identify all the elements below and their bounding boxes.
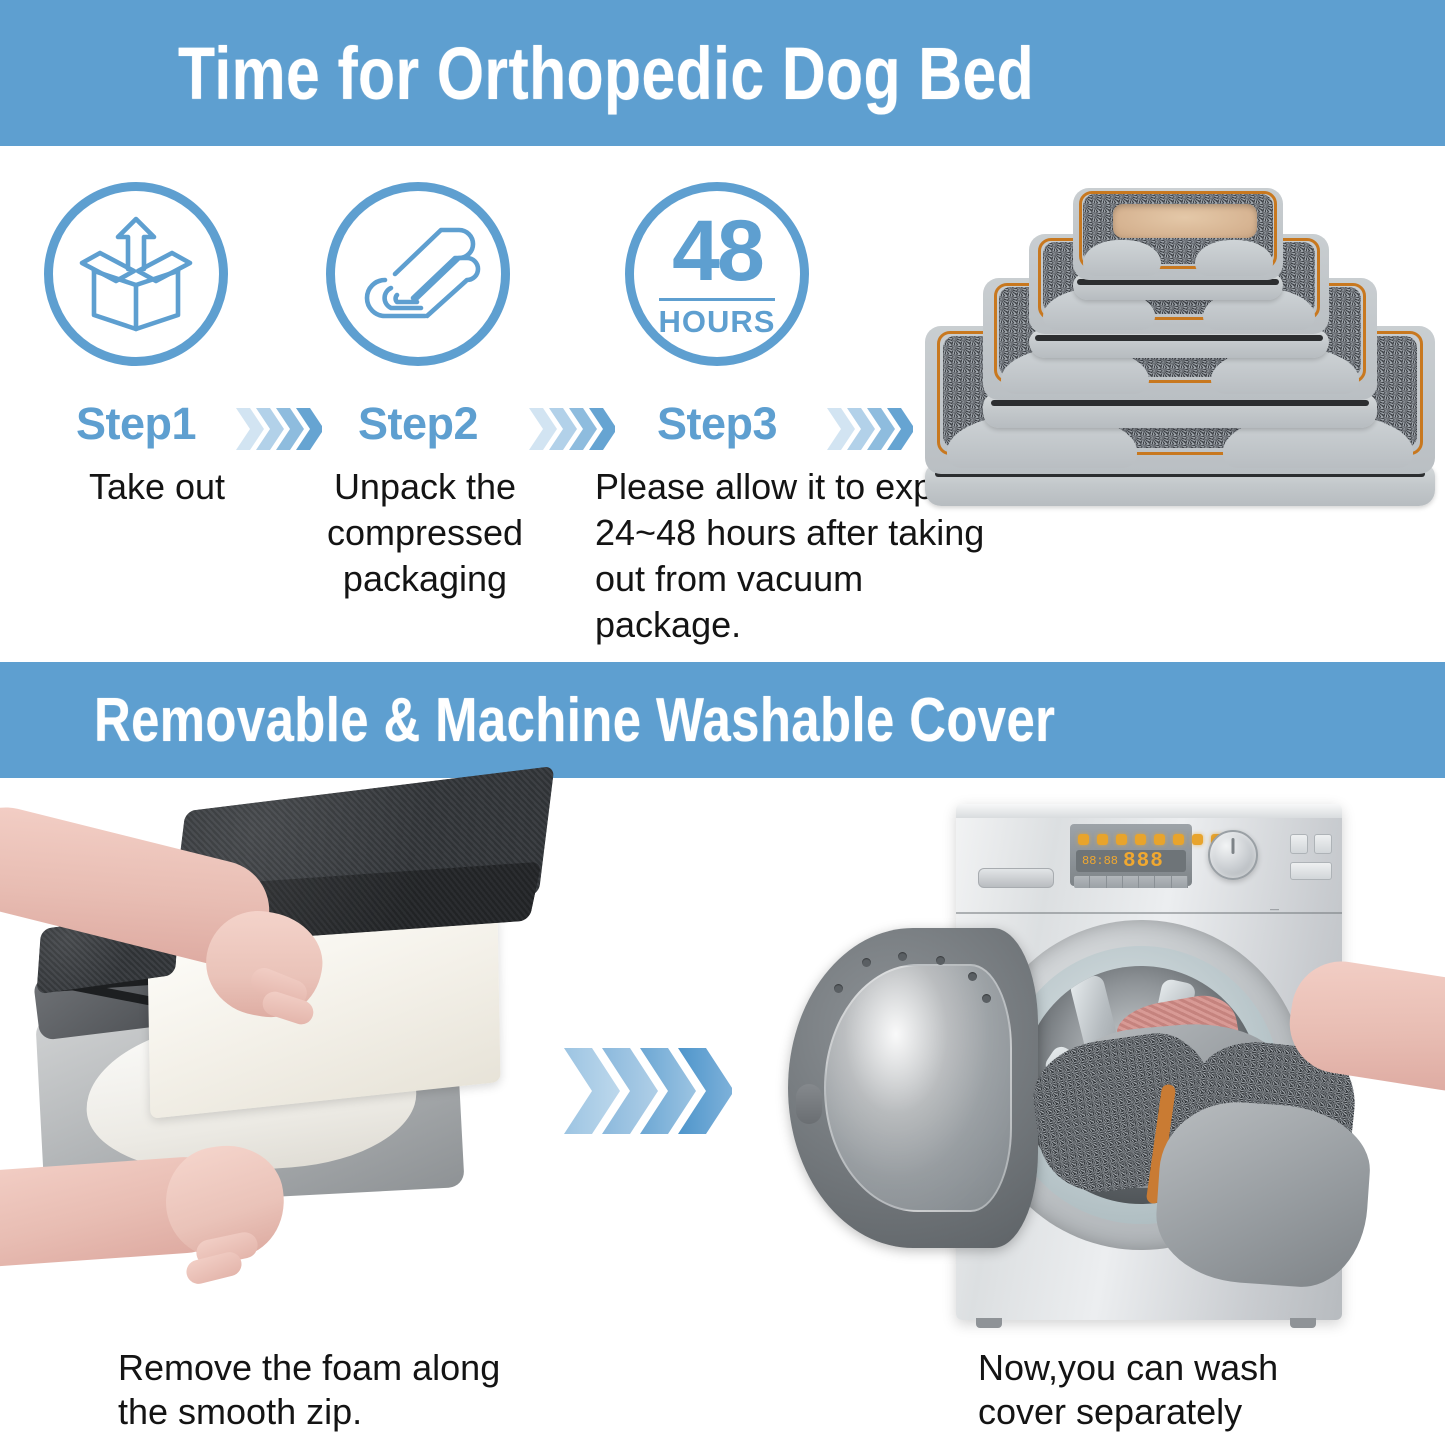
step-3-label: Step3 xyxy=(625,398,809,450)
chevron-right-icon xyxy=(562,1042,732,1140)
arrow-group-3 xyxy=(825,404,913,454)
program-cell[interactable] xyxy=(1155,876,1171,888)
washer-foot-right xyxy=(1290,1318,1316,1328)
led-indicator-7 xyxy=(1192,834,1203,845)
step-3-circle: 48 HOURS xyxy=(625,182,809,366)
arrow-group-1 xyxy=(234,404,322,454)
led-indicator-2 xyxy=(1097,834,1108,845)
chevron-right-icon xyxy=(234,404,322,454)
display-primary-value: 888 xyxy=(1123,850,1164,873)
washer-button-1[interactable] xyxy=(1290,834,1308,854)
step-1-description: Take out xyxy=(52,464,262,510)
washer-digital-display: 88:88 888 xyxy=(1076,850,1186,872)
step-2-circle xyxy=(326,182,510,366)
program-cell[interactable] xyxy=(1074,876,1090,888)
top-banner-title: Time for Orthopedic Dog Bed xyxy=(178,31,1034,116)
washer-door-handle[interactable] xyxy=(796,1084,822,1124)
bed-top-cushion xyxy=(1073,188,1283,280)
arrow-group-bottom xyxy=(562,1042,732,1140)
door-screw-2 xyxy=(898,952,907,961)
program-cell[interactable] xyxy=(1107,876,1123,888)
led-indicator-4 xyxy=(1135,834,1146,845)
48-hours-badge: 48 HOURS xyxy=(659,208,776,341)
program-cell[interactable] xyxy=(1123,876,1139,888)
led-indicator-5 xyxy=(1154,834,1165,845)
folded-blanket-icon xyxy=(355,218,481,330)
program-cell[interactable] xyxy=(1139,876,1155,888)
hours-unit: HOURS xyxy=(659,298,776,337)
top-banner: Time for Orthopedic Dog Bed xyxy=(0,0,1445,146)
detergent-drawer-handle xyxy=(978,868,1054,888)
stacked-dog-beds-photo xyxy=(925,186,1435,506)
middle-banner: Removable & Machine Washable Cover xyxy=(0,662,1445,778)
washer-button-2[interactable] xyxy=(1314,834,1332,854)
bed-zipper xyxy=(991,400,1369,406)
foam-removal-photo xyxy=(0,782,560,1322)
lower-hand-finger-2 xyxy=(184,1250,244,1287)
bed-base xyxy=(1029,330,1329,358)
door-screw-1 xyxy=(862,958,871,967)
washer-program-strip xyxy=(1074,876,1188,888)
steps-section: Step1 Take out xyxy=(0,146,920,662)
door-screw-4 xyxy=(968,972,977,981)
arrow-group-2 xyxy=(527,404,615,454)
infographic-page: Time for Orthopedic Dog Bed xyxy=(0,0,1445,1445)
step-2-description: Unpack the compressed packaging xyxy=(320,464,530,602)
dial-pointer xyxy=(1232,838,1235,854)
door-screw-3 xyxy=(936,956,945,965)
bottom-right-caption: Now,you can wash cover separately xyxy=(978,1346,1318,1434)
bottom-left-caption: Remove the foam along the smooth zip. xyxy=(118,1346,548,1434)
washer-foot-left xyxy=(976,1318,1002,1328)
washer-start-button[interactable] xyxy=(1290,862,1332,880)
washer-top-surface xyxy=(956,804,1342,818)
door-screw-5 xyxy=(834,984,843,993)
step-1-label: Step1 xyxy=(44,398,228,450)
chevron-right-icon xyxy=(825,404,913,454)
middle-banner-title: Removable & Machine Washable Cover xyxy=(94,685,1055,756)
display-secondary-value: 88:88 xyxy=(1082,854,1118,868)
hours-number: 48 xyxy=(659,208,776,294)
led-indicator-3 xyxy=(1116,834,1127,845)
program-cell[interactable] xyxy=(1172,876,1188,888)
step-1-circle xyxy=(44,182,228,366)
bed-bolster-left xyxy=(1083,240,1161,276)
open-box-with-up-arrow-icon xyxy=(76,215,196,333)
led-indicator-1 xyxy=(1078,834,1089,845)
laundry-grey-fabric-front xyxy=(1152,1097,1374,1291)
washer-panel-seam xyxy=(956,912,1342,914)
program-cell[interactable] xyxy=(1090,876,1106,888)
dog-bed-size-s xyxy=(1073,188,1283,300)
bed-zipper xyxy=(1035,335,1323,341)
step-2-label: Step2 xyxy=(326,398,510,450)
led-indicator-6 xyxy=(1173,834,1184,845)
washer-program-dial[interactable] xyxy=(1208,830,1258,880)
chevron-right-icon xyxy=(527,404,615,454)
bed-bolster-right xyxy=(1195,240,1273,276)
door-screw-6 xyxy=(982,994,991,1003)
washing-machine-photo: 88:88 888 — xyxy=(770,782,1445,1322)
